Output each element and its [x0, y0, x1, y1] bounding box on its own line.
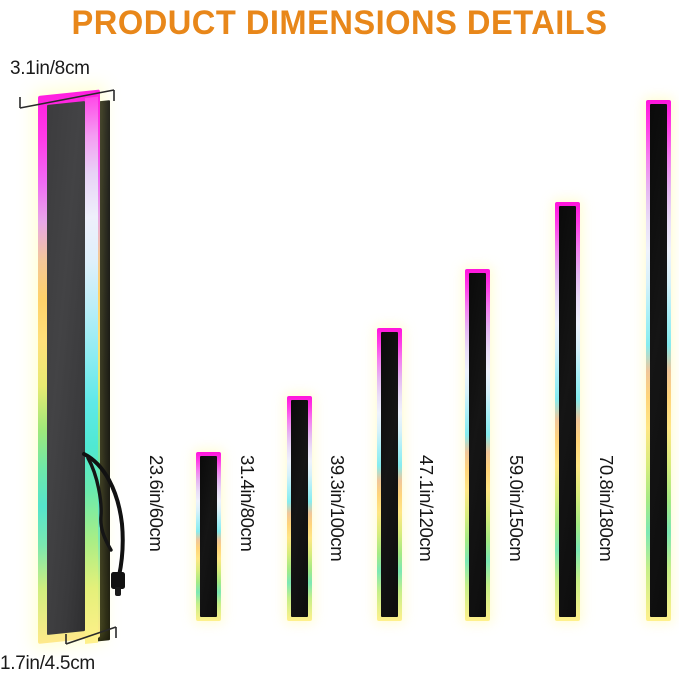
size-bar: [287, 396, 312, 621]
size-bar: [377, 328, 402, 621]
size-bar-label: 70.8in/180cm: [595, 455, 617, 561]
size-bar-label: 31.4in/80cm: [236, 455, 258, 551]
hero-product-lamp: [30, 88, 130, 654]
depth-dimension-label: 1.7in/4.5cm: [0, 653, 95, 675]
hero-front-face: [47, 101, 85, 635]
size-bar-core: [200, 456, 217, 617]
size-bar-core: [650, 104, 667, 617]
product-dimensions-infographic: PRODUCT DIMENSIONS DETAILS 3.1in/8cm 1.7…: [0, 0, 679, 682]
size-bar-core: [559, 206, 576, 617]
size-bar-core: [469, 273, 486, 617]
size-bar-label: 39.3in/100cm: [326, 455, 348, 561]
size-bar: [465, 269, 490, 621]
size-bar-core: [291, 400, 308, 617]
size-bar: [196, 452, 221, 621]
depth-dimension-bracket: [60, 622, 138, 648]
width-dimension-bracket: [14, 86, 124, 112]
hero-edge-highlight: [85, 97, 98, 644]
size-bar: [555, 202, 580, 621]
width-dimension-label: 3.1in/8cm: [10, 58, 90, 80]
size-bar-label: 59.0in/150cm: [505, 455, 527, 561]
size-bar-label: 23.6in/60cm: [145, 455, 167, 551]
size-bar-label: 47.1in/120cm: [415, 455, 437, 561]
size-bar-core: [381, 332, 398, 617]
size-bar: [646, 100, 671, 621]
page-title: PRODUCT DIMENSIONS DETAILS: [14, 4, 666, 43]
